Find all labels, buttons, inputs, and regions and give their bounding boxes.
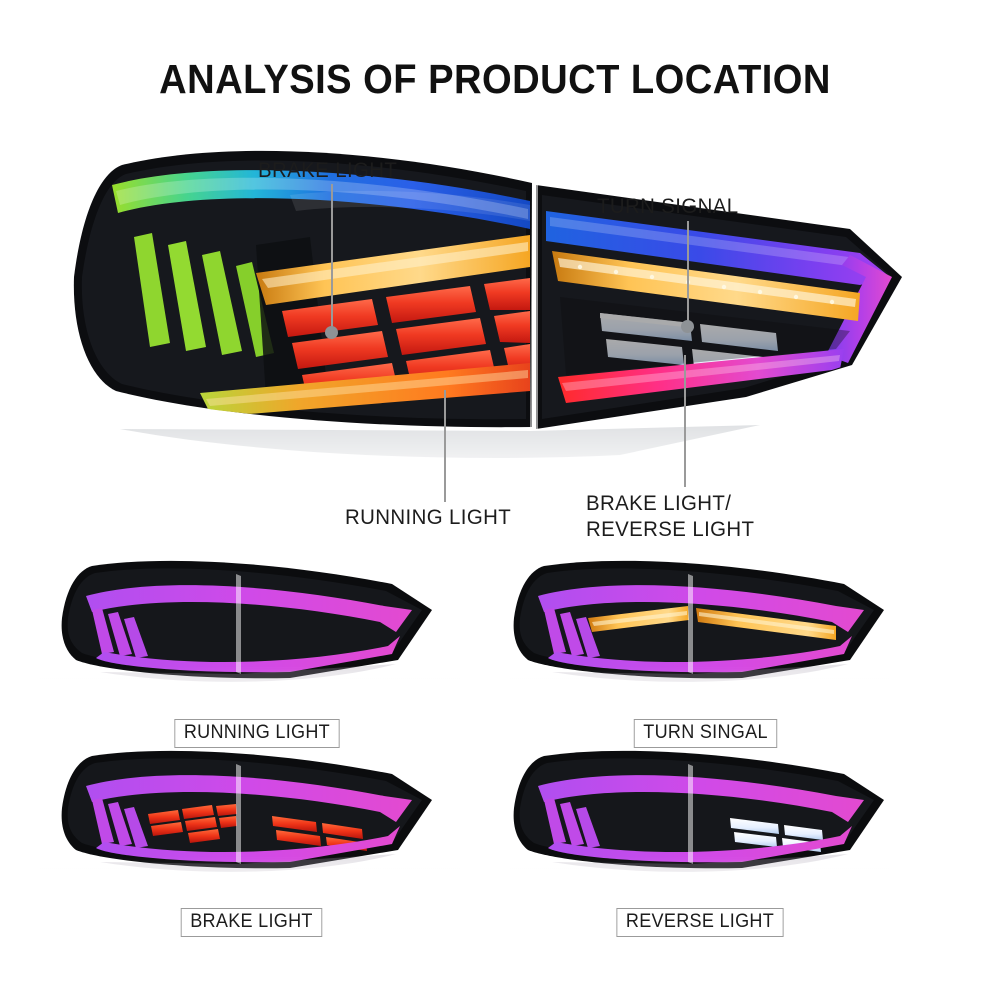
leader-line-turn [687,221,689,324]
thumb-brake-light-svg [40,738,460,908]
thumbnail-turn-signal [492,548,912,718]
surface-reflection [60,425,940,485]
callout-label-brake-reverse-line2: REVERSE LIGHT [586,516,754,542]
callout-label-brake-reverse-light: BRAKE LIGHT/ REVERSE LIGHT [586,490,754,542]
tail-light-right-half [536,185,902,429]
thumbnail-running-light [40,548,460,718]
thumbnail-caption-brake-light: BRAKE LIGHT [181,908,323,937]
infographic-page: ANALYSIS OF PRODUCT LOCATION [0,0,990,990]
callout-label-brake-light: BRAKE LIGHT [258,158,397,183]
callout-label-brake-reverse-line1: BRAKE LIGHT/ [586,490,754,516]
leader-line-brake [331,184,333,331]
hero-product-illustration [0,125,990,545]
thumb-running-light-svg [40,548,460,718]
leader-line-brake-reverse [684,355,686,487]
leader-dot-brake [325,326,338,339]
thumbnail-brake-light [40,738,460,908]
callout-label-turn-signal: TURN SIGNAL [597,194,739,219]
thumbnail-caption-reverse-light: REVERSE LIGHT [616,908,783,937]
thumb-turn-signal-svg [492,548,912,718]
leader-line-running [444,390,446,502]
leader-dot-turn [681,320,694,333]
thumb-reverse-light-svg [492,738,912,908]
thumbnail-reverse-light [492,738,912,908]
tail-light-assembly-svg [60,125,940,485]
tail-light-left-half [74,151,532,427]
page-title: ANALYSIS OF PRODUCT LOCATION [35,56,956,103]
callout-label-running-light: RUNNING LIGHT [345,505,511,530]
